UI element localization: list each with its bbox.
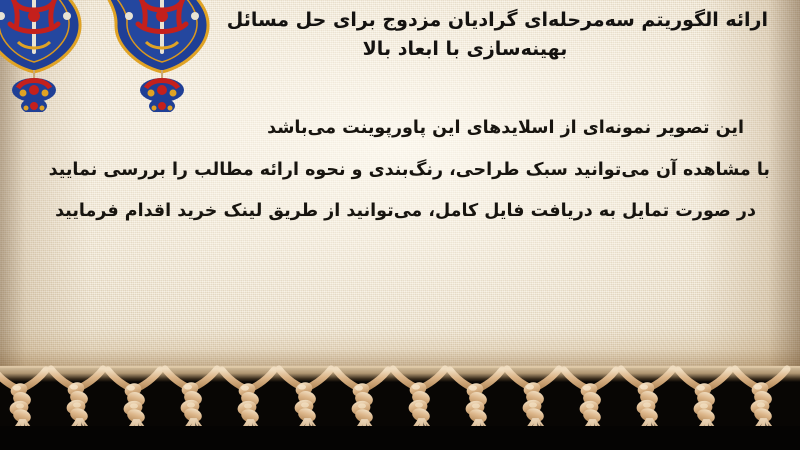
slide-text-layer: ارائه الگوریتم سه‌مرحله‌ای گرادیان مزدوج… — [0, 0, 800, 376]
slide-body: این تصویر نمونه‌ای از اسلایدهای این پاور… — [30, 108, 770, 233]
title-line-1: ارائه الگوریتم سه‌مرحله‌ای گرادیان مزدوج… — [208, 6, 768, 35]
body-line-1: این تصویر نمونه‌ای از اسلایدهای این پاور… — [30, 108, 770, 150]
fringe-bottom-shadow — [0, 426, 800, 450]
presentation-slide: ارائه الگوریتم سه‌مرحله‌ای گرادیان مزدوج… — [0, 0, 800, 450]
title-line-2: بهینه‌سازی با ابعاد بالا — [208, 35, 768, 64]
slide-title: ارائه الگوریتم سه‌مرحله‌ای گرادیان مزدوج… — [208, 6, 768, 64]
body-line-2: با مشاهده آن می‌توانید سبک طراحی، رنگ‌بن… — [30, 150, 770, 192]
body-line-3: در صورت تمایل به دریافت فایل کامل، می‌تو… — [30, 191, 770, 233]
